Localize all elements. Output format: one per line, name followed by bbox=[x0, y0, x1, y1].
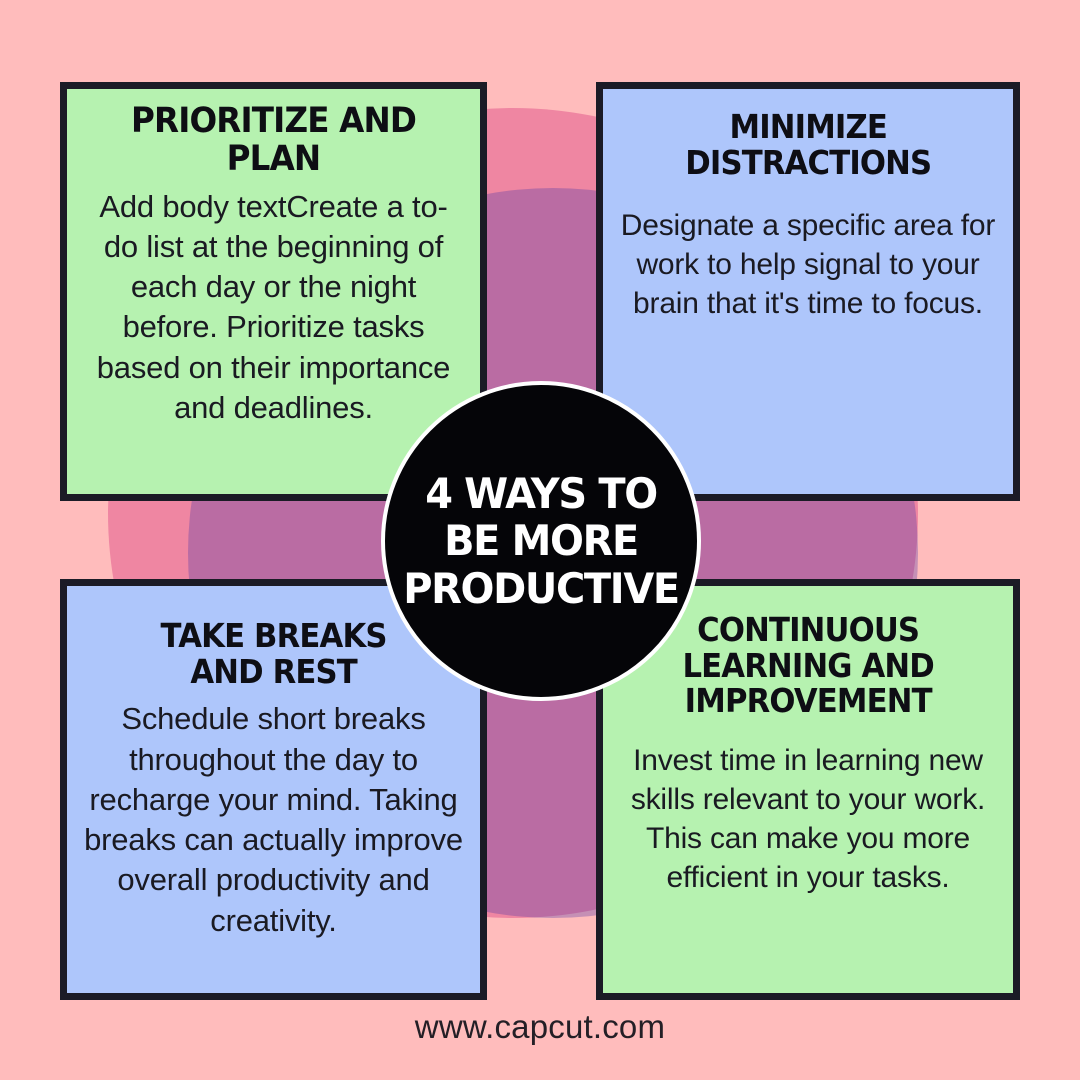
card-title: TAKE BREAKS AND REST bbox=[160, 618, 386, 689]
center-badge: 4 WAYS TO BE MORE PRODUCTIVE bbox=[381, 381, 701, 701]
card-title: MINIMIZE DISTRACTIONS bbox=[685, 109, 931, 180]
card-title: PRIORITIZE AND PLAN bbox=[96, 103, 450, 179]
card-body: Add body textCreate a to-do list at the … bbox=[83, 187, 464, 429]
infographic-canvas: PRIORITIZE AND PLAN Add body textCreate … bbox=[0, 0, 1080, 1080]
center-badge-title: 4 WAYS TO BE MORE PRODUCTIVE bbox=[393, 470, 689, 611]
card-body: Designate a specific area for work to he… bbox=[619, 206, 997, 323]
card-body: Invest time in learning new skills relev… bbox=[619, 741, 997, 897]
card-body: Schedule short breaks throughout the day… bbox=[83, 699, 464, 941]
card-title: CONTINUOUS LEARNING AND IMPROVEMENT bbox=[682, 612, 933, 719]
footer-url: www.capcut.com bbox=[0, 1008, 1080, 1046]
